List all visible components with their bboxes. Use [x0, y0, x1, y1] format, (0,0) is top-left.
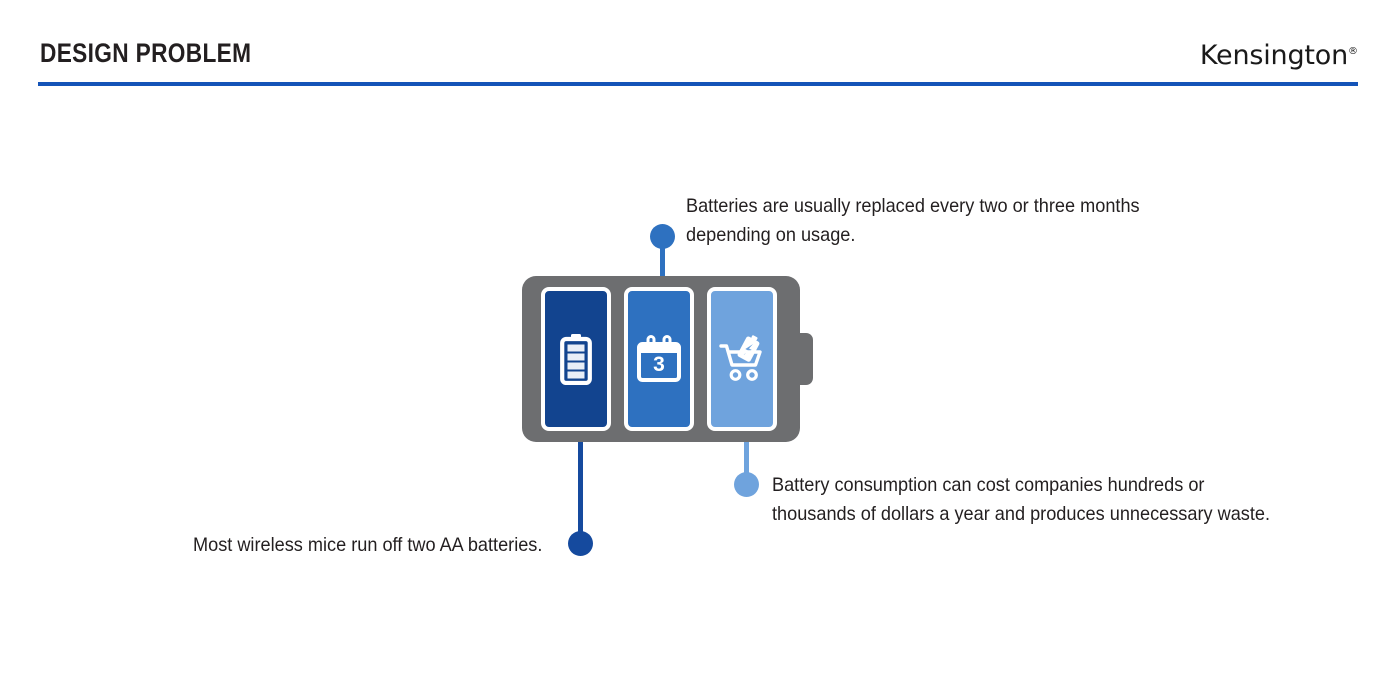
brand-logo-text: Kensington: [1200, 40, 1348, 71]
connector-dot-battery: [568, 531, 593, 556]
connector-dot-cart: [734, 472, 759, 497]
calendar-day-number: 3: [653, 353, 665, 376]
cell-calendar: 3: [624, 287, 694, 431]
title-divider-rule: [38, 82, 1358, 86]
registered-trademark-icon: ®: [1348, 46, 1358, 57]
brand-logo: Kensington®: [1200, 40, 1358, 71]
callout-cart: Battery consumption can cost companies h…: [772, 471, 1270, 529]
callout-cart-line-2: thousands of dollars a year and produces…: [772, 500, 1270, 529]
shopping-cart-battery-icon: [717, 334, 767, 384]
battery-icon: [559, 333, 593, 385]
cell-shopping-cart: [707, 287, 777, 431]
connector-dot-calendar: [650, 224, 675, 249]
callout-calendar-line-2: depending on usage.: [686, 221, 1140, 250]
callout-calendar-line-1: Batteries are usually replaced every two…: [686, 192, 1140, 221]
callout-battery-line-1: Most wireless mice run off two AA batter…: [193, 531, 542, 560]
callout-cart-line-1: Battery consumption can cost companies h…: [772, 471, 1270, 500]
slide-header: DESIGN PROBLEM Kensington®: [0, 0, 1400, 92]
battery-graphic: 3: [522, 276, 810, 442]
calendar-icon: 3: [636, 335, 682, 383]
callout-calendar: Batteries are usually replaced every two…: [686, 192, 1140, 250]
callout-battery: Most wireless mice run off two AA batter…: [193, 531, 542, 560]
page-title: DESIGN PROBLEM: [40, 38, 251, 69]
cell-battery-level: [541, 287, 611, 431]
